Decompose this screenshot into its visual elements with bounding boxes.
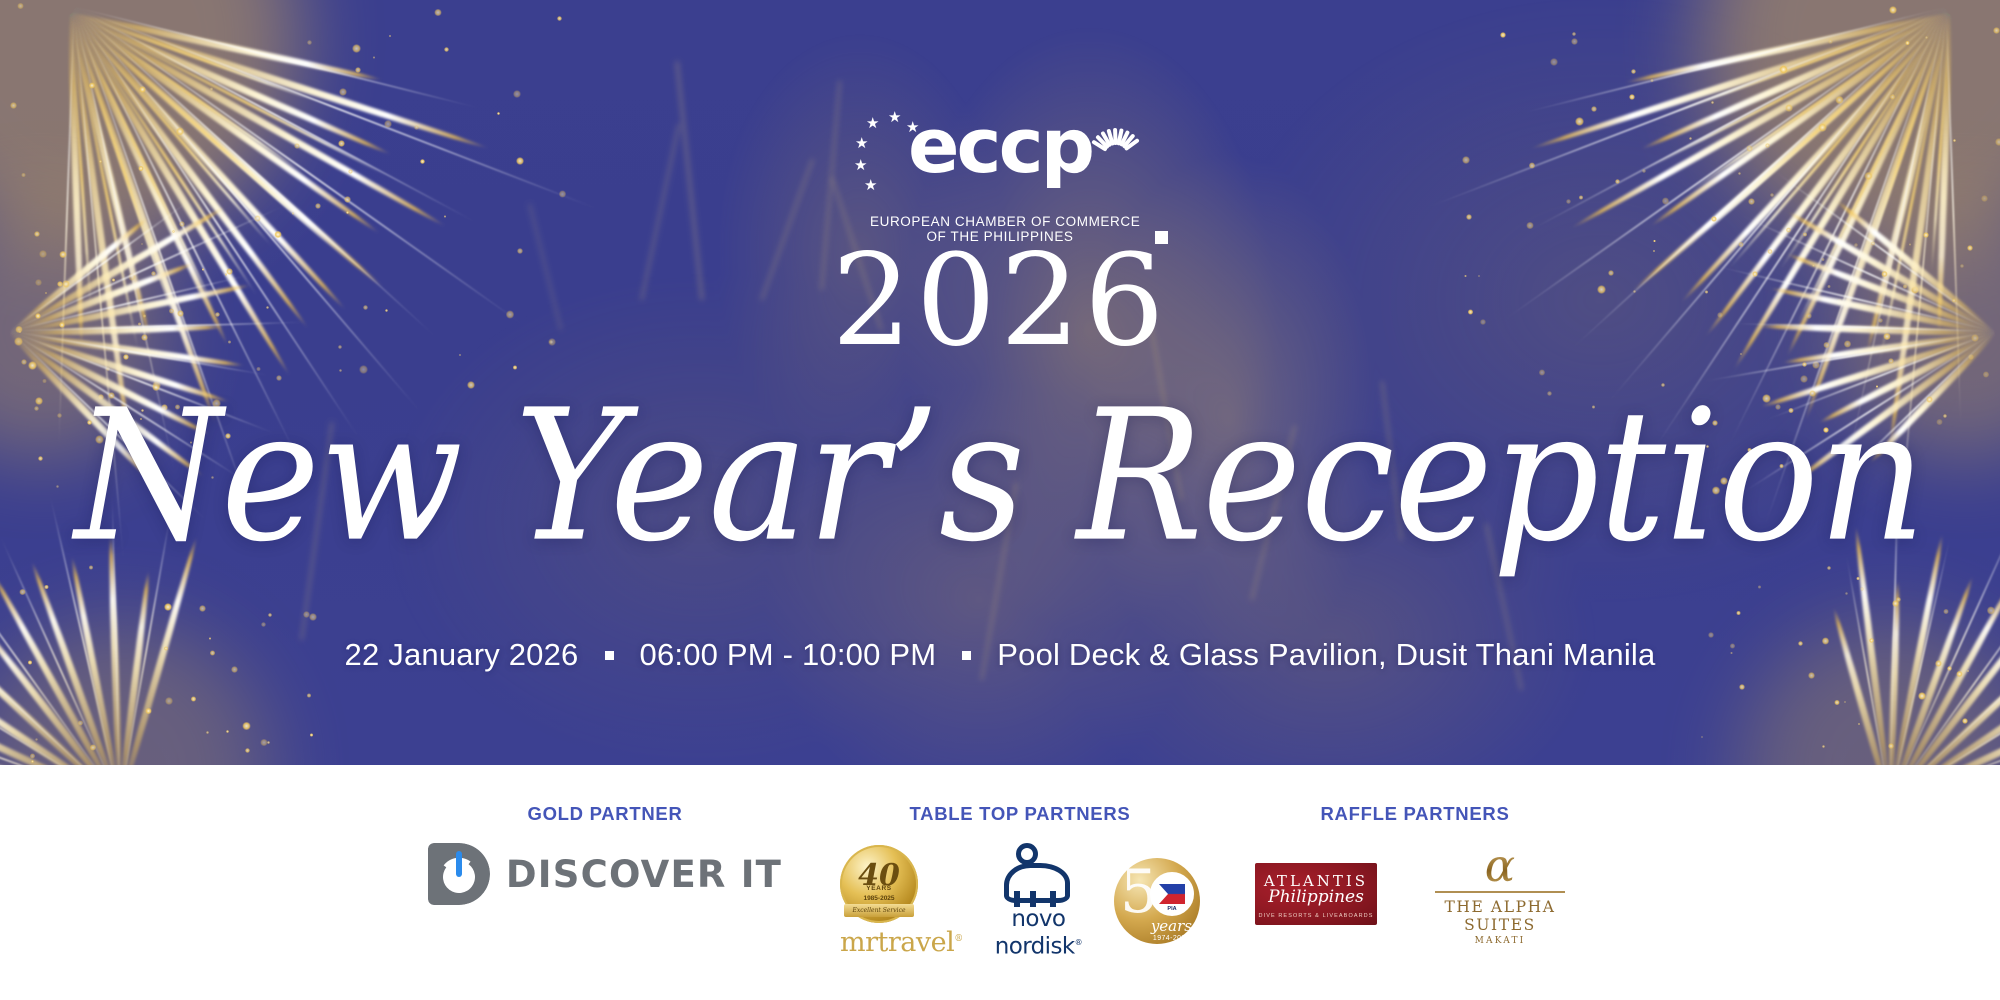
eccp-logo: ★ ★ ★ ★ ★ ★ eccp EUROPEAN CHAMBER OF C [790,108,1210,244]
partner-group-gold: GOLD PARTNER DISCOVER IT [370,765,840,905]
seal-dates: 1985-2025 [840,895,918,902]
partner-logo-pia-50-years[interactable]: 5 PIA years 1974-2024 [1114,858,1200,944]
novo-nordisk-word-text: novo nordisk [995,906,1075,960]
event-time: 06:00 PM - 10:00 PM [640,638,937,672]
gold-partner-heading: GOLD PARTNER [370,803,840,825]
philippine-flag-icon [1159,884,1185,904]
pia-seal-mark: PIA [1150,872,1194,916]
raffle-partners-heading: RAFFLE PARTNERS [1200,803,1630,825]
mrtravel-40-years-seal-icon: 40 YEARS 1985-2025 Excellent Service [840,845,918,923]
eccp-logo-mark: ★ ★ ★ ★ ★ ★ eccp [870,108,1130,208]
event-banner: ★ ★ ★ ★ ★ ★ eccp EUROPEAN CHAMBER OF C [0,0,2000,1000]
alpha-suites-location: MAKATI [1425,936,1575,946]
mrtravel-wordmark: mrtravel® [840,925,963,957]
event-details: 22 January 2026 06:00 PM - 10:00 PM Pool… [0,638,2000,672]
partner-logo-mrtravel[interactable]: 40 YEARS 1985-2025 Excellent Service mrt… [840,845,963,957]
separator-dot-icon [962,651,971,660]
partner-logo-novo-nordisk[interactable]: novo nordisk® [989,843,1088,959]
eu-stars-icon: ★ ★ ★ ★ ★ ★ [854,110,924,196]
event-title: New Year’s Reception [0,374,2000,577]
seal-dates: 1974-2024 [1153,935,1190,942]
event-date: 22 January 2026 [345,638,579,672]
separator-dot-icon [605,651,614,660]
table-top-partners-heading: TABLE TOP PARTNERS [840,803,1200,825]
event-year: 2026 [0,238,2000,364]
partner-group-raffle: RAFFLE PARTNERS ATLANTIS Philippines DIV… [1200,765,1630,946]
pia-abbrev: PIA [1152,906,1192,912]
seal-ribbon: Excellent Service [844,904,914,917]
partner-logo-discover-it[interactable]: DISCOVER IT [428,843,782,905]
event-venue: Pool Deck & Glass Pavilion, Dusit Thani … [997,638,1655,672]
atlantis-script: Philippines [1255,887,1377,907]
registered-mark: ® [954,934,963,944]
pia-50-years-seal-icon: 5 PIA years 1974-2024 [1114,858,1200,944]
atlantis-tagline: DIVE RESORTS & LIVEABOARDS [1255,913,1377,919]
mrtravel-word-text: mrtravel [840,927,954,958]
registered-mark: ® [1075,938,1082,947]
novo-nordisk-wordmark: novo nordisk® [989,907,1088,959]
alpha-glyph-icon: α [1425,843,1575,889]
partner-group-table-top: TABLE TOP PARTNERS 40 YEARS 1985-2025 Ex… [840,765,1200,959]
discover-it-wordmark: DISCOVER IT [506,853,782,896]
alpha-suites-wordmark: THE ALPHA SUITES [1425,898,1575,934]
sunburst-icon [1088,102,1144,158]
partner-logo-atlantis-philippines[interactable]: ATLANTIS Philippines DIVE RESORTS & LIVE… [1255,863,1377,925]
partners-section: GOLD PARTNER DISCOVER IT TABLE TOP PARTN… [0,765,2000,1000]
hero-section: ★ ★ ★ ★ ★ ★ eccp EUROPEAN CHAMBER OF C [0,0,2000,765]
discover-it-icon [428,843,490,905]
seal-years: YEARS [840,885,918,892]
partner-logo-the-alpha-suites[interactable]: α THE ALPHA SUITES MAKATI [1425,843,1575,946]
seal-years: years [1151,919,1192,934]
apis-bull-icon [1000,843,1076,905]
